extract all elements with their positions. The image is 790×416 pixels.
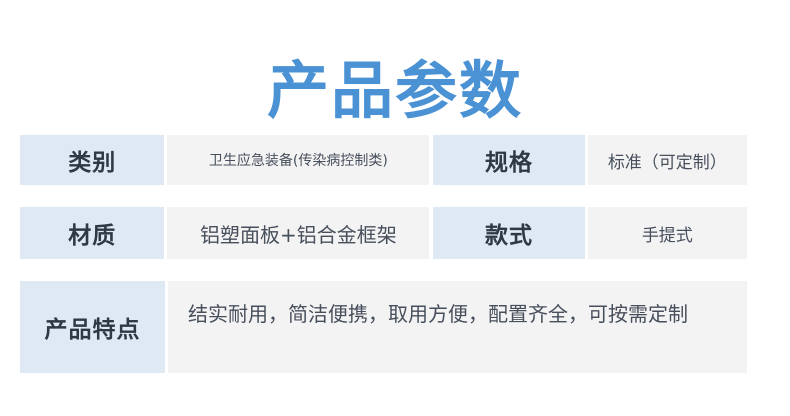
table-row: 产品特点 结实耐用，简洁便携，取用方便，配置齐全，可按需定制	[20, 281, 747, 373]
spec-value-style: 手提式	[588, 207, 747, 259]
spec-label-specification: 规格	[433, 135, 584, 185]
spec-value-material: 铝塑面板+铝合金框架	[167, 207, 429, 259]
spec-value-specification: 标准（可定制）	[588, 135, 747, 185]
table-row: 材质 铝塑面板+铝合金框架 款式 手提式	[20, 207, 747, 259]
spec-label-category: 类别	[20, 135, 164, 185]
spec-label-features: 产品特点	[20, 281, 165, 373]
features-text: 结实耐用，简洁便携，取用方便，配置齐全，可按需定制	[188, 299, 688, 330]
page-title: 产品参数	[267, 54, 523, 128]
spec-table: 类别 卫生应急装备(传染病控制类) 规格 标准（可定制） 材质 铝塑面板+铝合金…	[20, 135, 747, 373]
spec-value-category: 卫生应急装备(传染病控制类)	[167, 135, 429, 185]
table-row: 类别 卫生应急装备(传染病控制类) 规格 标准（可定制）	[20, 135, 747, 185]
product-spec-page: 产品参数 类别 卫生应急装备(传染病控制类) 规格 标准（可定制） 材质 铝塑面…	[0, 0, 790, 416]
title-block: 产品参数	[0, 0, 790, 96]
spec-label-style: 款式	[433, 207, 584, 259]
spec-label-material: 材质	[20, 207, 164, 259]
spec-value-features: 结实耐用，简洁便携，取用方便，配置齐全，可按需定制	[168, 281, 747, 373]
